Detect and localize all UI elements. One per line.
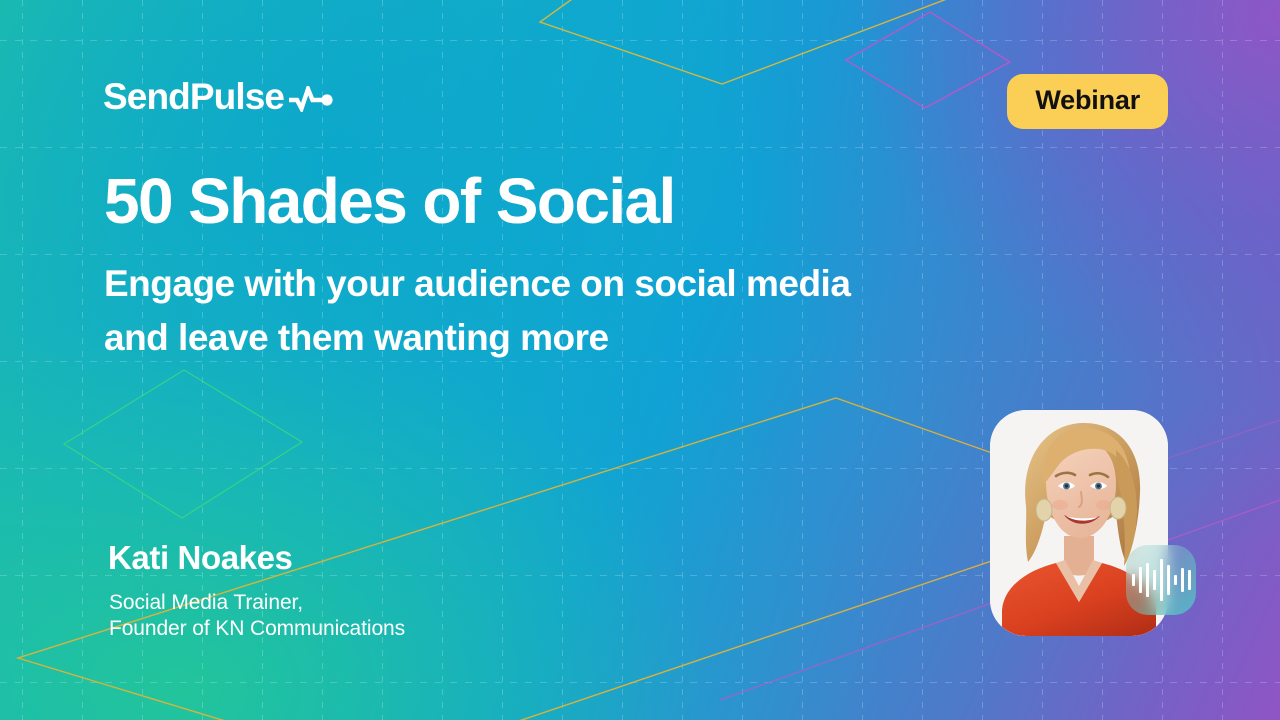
speaker-role-line-2: Founder of KN Communications: [109, 616, 405, 642]
waveform-bar: [1188, 570, 1191, 590]
pulse-heartbeat-icon: [289, 86, 335, 112]
audio-waveform-icon: [1126, 545, 1196, 615]
speaker-name: Kati Noakes: [108, 540, 293, 576]
waveform-bar: [1146, 563, 1149, 597]
speaker-role-line-1: Social Media Trainer,: [109, 590, 405, 616]
waveform-bars: [1132, 545, 1191, 615]
waveform-bar: [1132, 574, 1135, 586]
webinar-promo-banner: SendPulse Webinar 50 Shades of Social En…: [0, 0, 1280, 720]
webinar-badge: Webinar: [1007, 74, 1168, 129]
waveform-bar: [1160, 559, 1163, 601]
speaker-role: Social Media Trainer, Founder of KN Comm…: [109, 590, 405, 641]
page-subtitle: Engage with your audience on social medi…: [104, 257, 850, 366]
waveform-bar: [1139, 567, 1142, 593]
brand-logo[interactable]: SendPulse: [103, 78, 335, 115]
webinar-badge-label: Webinar: [1035, 85, 1140, 115]
brand-logo-text: SendPulse: [103, 78, 284, 115]
waveform-bar: [1167, 565, 1170, 595]
page-subtitle-line-1: Engage with your audience on social medi…: [104, 257, 850, 311]
waveform-bar: [1174, 575, 1177, 585]
waveform-bar: [1153, 570, 1156, 590]
page-subtitle-line-2: and leave them wanting more: [104, 311, 850, 365]
page-title: 50 Shades of Social: [104, 168, 675, 235]
waveform-bar: [1181, 568, 1184, 592]
